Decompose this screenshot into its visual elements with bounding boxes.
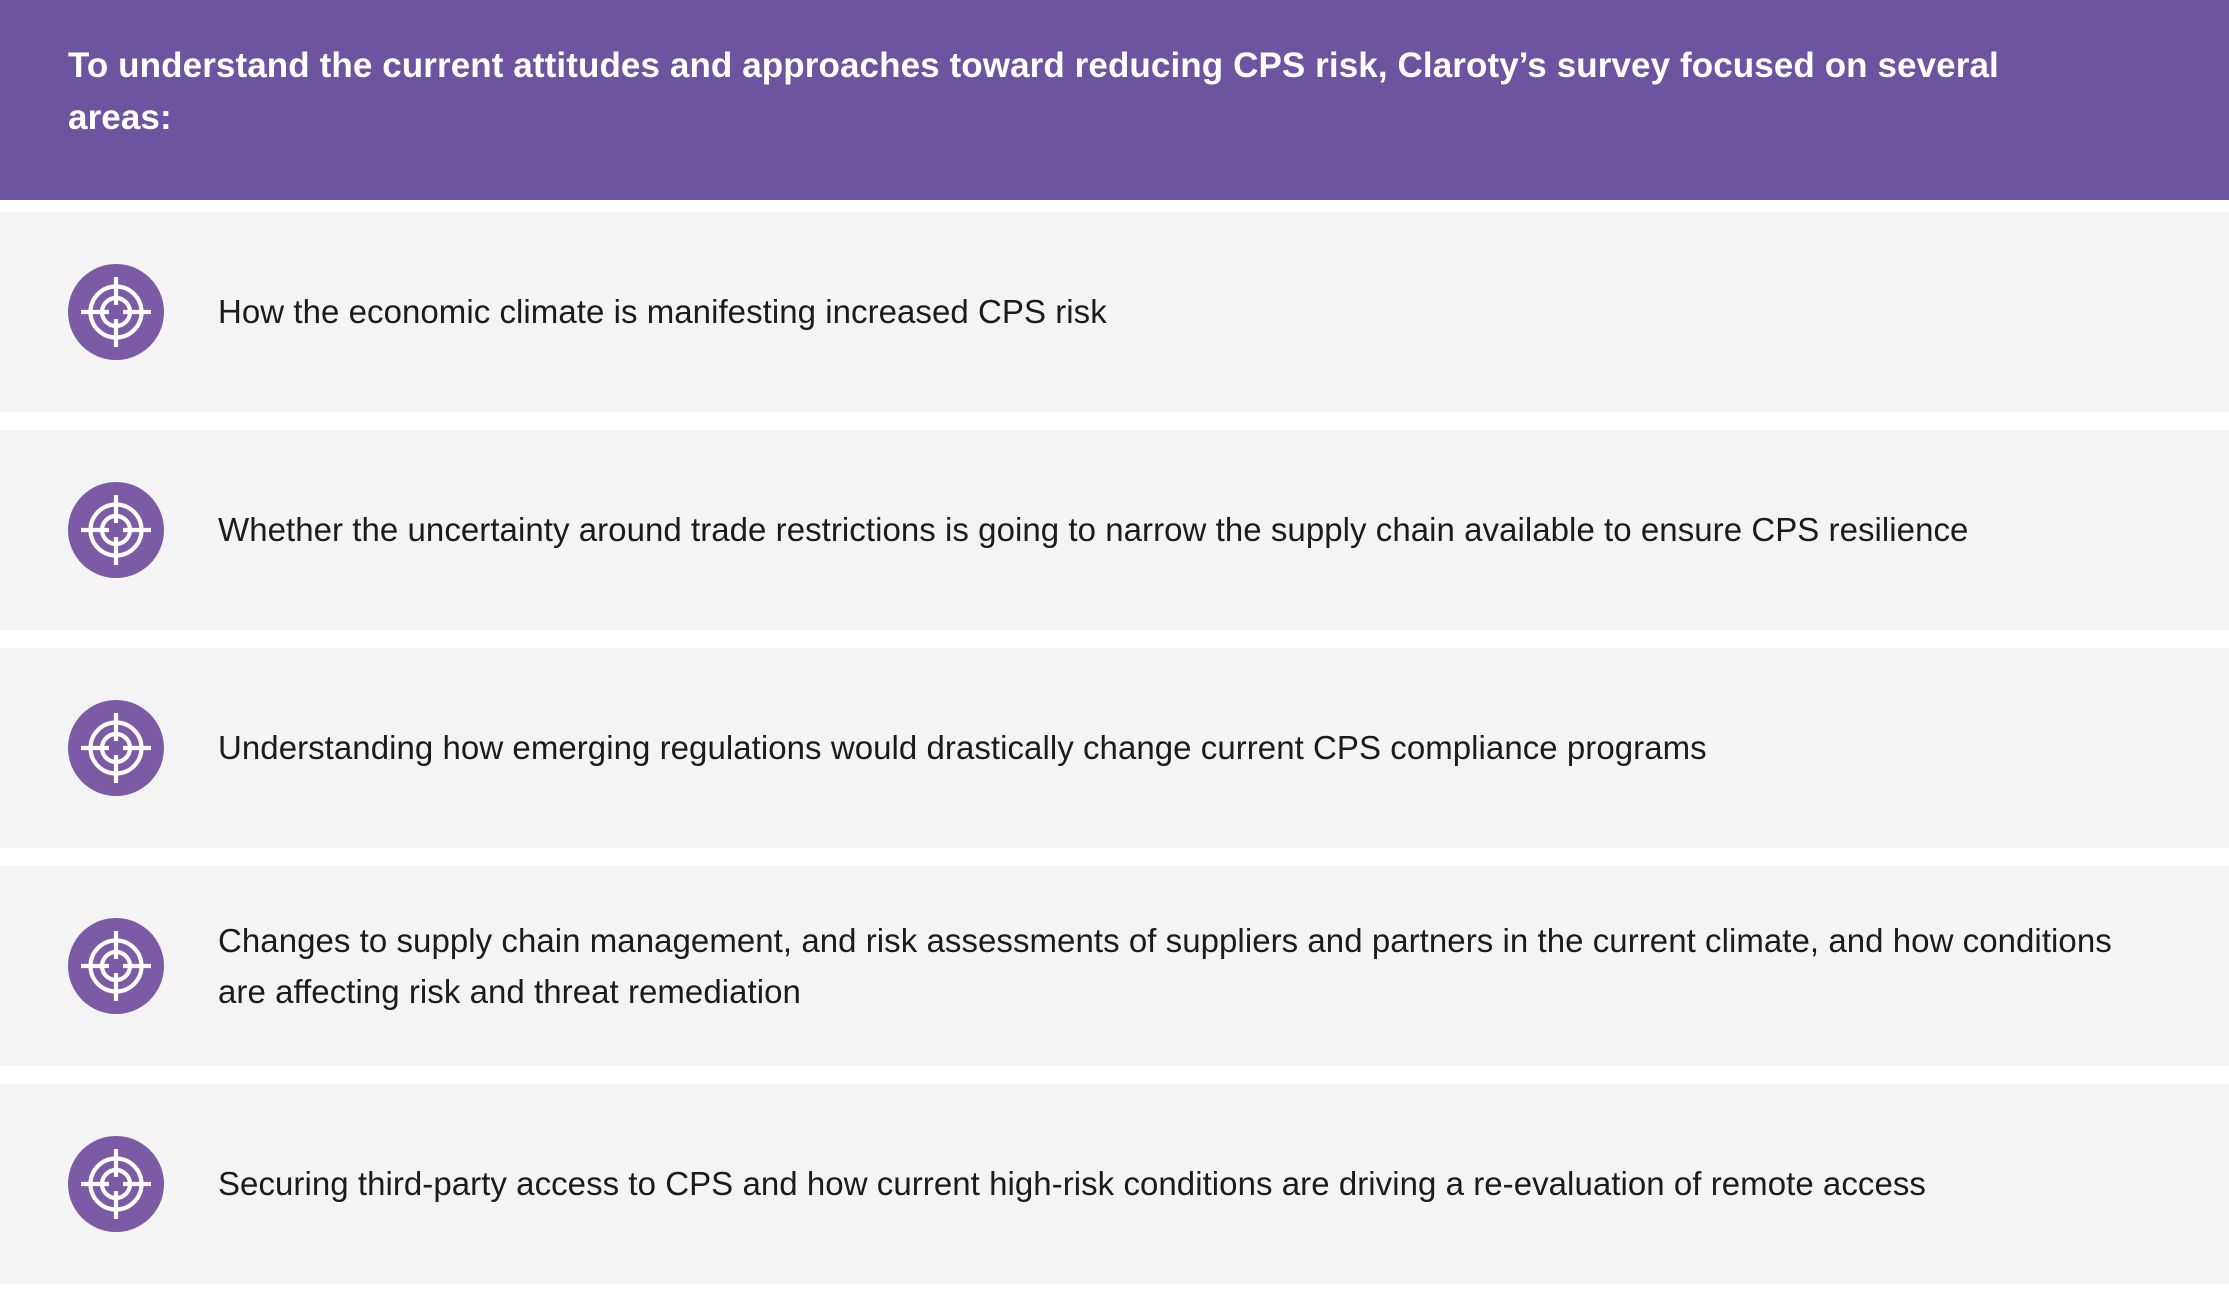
list-item: Securing third-party access to CPS and h…	[0, 1084, 2229, 1284]
crosshair-target-icon	[68, 1136, 164, 1232]
list-item-label: Changes to supply chain management, and …	[218, 915, 2138, 1017]
list-item-label: Securing third-party access to CPS and h…	[218, 1158, 1926, 1209]
crosshair-target-icon	[68, 918, 164, 1014]
focus-area-list: How the economic climate is manifesting …	[0, 200, 2229, 1292]
header-banner: To understand the current attitudes and …	[0, 0, 2229, 200]
list-item-label: Understanding how emerging regulations w…	[218, 722, 1707, 773]
survey-focus-areas-infographic: To understand the current attitudes and …	[0, 0, 2229, 1238]
crosshair-target-icon	[68, 700, 164, 796]
list-item-label: How the economic climate is manifesting …	[218, 286, 1107, 337]
list-item-label: Whether the uncertainty around trade res…	[218, 504, 1968, 555]
crosshair-target-icon	[68, 264, 164, 360]
crosshair-target-icon	[68, 482, 164, 578]
list-item: Understanding how emerging regulations w…	[0, 648, 2229, 848]
list-item: Changes to supply chain management, and …	[0, 866, 2229, 1066]
page-title: To understand the current attitudes and …	[68, 40, 2078, 144]
list-item: Whether the uncertainty around trade res…	[0, 430, 2229, 630]
list-item: How the economic climate is manifesting …	[0, 212, 2229, 412]
